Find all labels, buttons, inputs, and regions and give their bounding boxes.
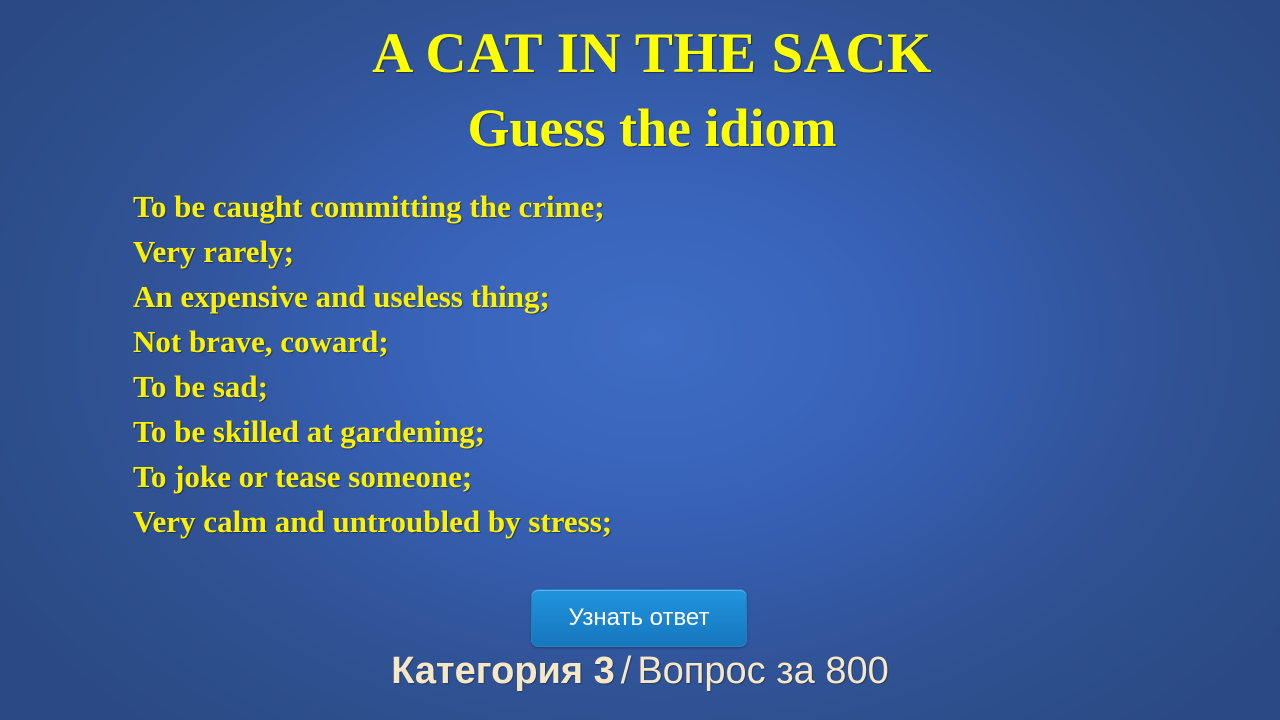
- page-title: A CAT IN THE SACK: [24, 22, 1280, 86]
- list-item: To be caught committing the crime;: [133, 184, 1033, 229]
- question-value-label: Вопрос за 800: [637, 650, 888, 692]
- list-item: To be skilled at gardening;: [133, 409, 1033, 454]
- reveal-answer-button-label: Узнать ответ: [569, 604, 710, 632]
- list-item: Not brave, coward;: [133, 319, 1033, 364]
- list-item: An expensive and useless thing;: [133, 274, 1033, 319]
- reveal-answer-button[interactable]: Узнать ответ: [531, 589, 747, 647]
- definitions-list: To be caught committing the crime; Very …: [133, 184, 1033, 544]
- list-item: Very calm and untroubled by stress;: [133, 499, 1033, 544]
- quiz-slide: A CAT IN THE SACK Guess the idiom To be …: [0, 0, 1280, 720]
- title-block: A CAT IN THE SACK Guess the idiom: [0, 22, 1280, 160]
- footer-separator: /: [615, 650, 638, 692]
- page-subtitle: Guess the idiom: [24, 96, 1280, 160]
- footer: Категория 3/Вопрос за 800: [0, 648, 1280, 694]
- list-item: To joke or tease someone;: [133, 454, 1033, 499]
- list-item: Very rarely;: [133, 229, 1033, 274]
- category-label: Категория 3: [391, 650, 615, 692]
- list-item: To be sad;: [133, 364, 1033, 409]
